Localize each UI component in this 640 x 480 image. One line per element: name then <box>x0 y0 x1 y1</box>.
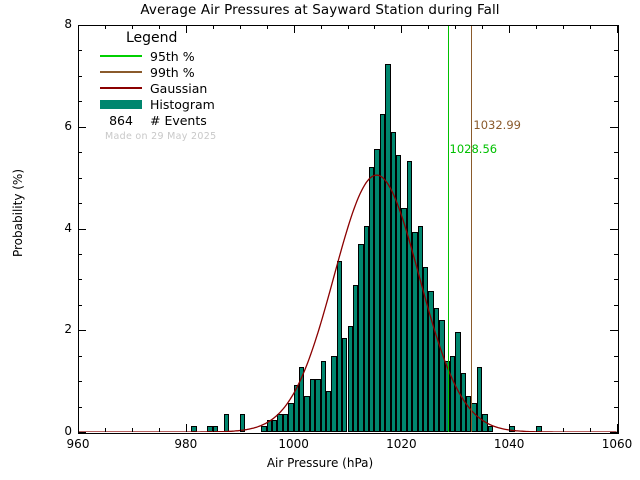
axis-tick <box>78 407 82 408</box>
axis-tick <box>563 428 564 432</box>
axis-tick <box>610 25 618 26</box>
axis-tick <box>614 381 618 382</box>
legend-entry-label: 95th % <box>150 49 195 64</box>
axis-tick <box>78 229 86 230</box>
axis-tick <box>213 428 214 432</box>
legend-entry: Histogram <box>100 96 300 112</box>
axis-tick <box>614 50 618 51</box>
axis-tick <box>105 25 106 29</box>
axis-tick <box>509 25 510 33</box>
axis-tick <box>78 101 82 102</box>
axis-tick <box>428 25 429 29</box>
axis-tick <box>614 356 618 357</box>
legend-entry-label: Gaussian <box>150 81 207 96</box>
axis-tick <box>78 432 86 433</box>
axis-tick <box>614 279 618 280</box>
axis-tick <box>374 428 375 432</box>
y-axis-label: Probability (%) <box>11 133 25 293</box>
y-tick-label: 2 <box>46 322 72 336</box>
axis-tick <box>159 428 160 432</box>
axis-tick <box>614 152 618 153</box>
axis-tick <box>563 25 564 29</box>
legend-entries: 95th %99th %GaussianHistogram <box>100 48 300 112</box>
axis-tick <box>78 381 82 382</box>
axis-tick <box>610 432 618 433</box>
axis-tick <box>267 25 268 29</box>
axis-tick <box>610 330 618 331</box>
legend-title: Legend <box>126 30 300 46</box>
x-axis-label: Air Pressure (hPa) <box>0 456 640 470</box>
legend: Legend 95th %99th %GaussianHistogram 864… <box>100 30 300 142</box>
axis-tick <box>78 25 79 33</box>
axis-tick <box>614 203 618 204</box>
axis-tick <box>401 424 402 432</box>
x-tick-label: 1040 <box>479 437 539 451</box>
made-on-stamp: Made on 29 May 2025 <box>105 131 300 142</box>
axis-tick <box>78 203 82 204</box>
axis-tick <box>78 279 82 280</box>
y-tick-label: 8 <box>46 17 72 31</box>
legend-events-row: 864 # Events <box>100 112 300 129</box>
legend-swatch <box>100 71 142 73</box>
axis-tick <box>78 127 86 128</box>
x-tick-label: 1060 <box>587 437 640 451</box>
axis-tick <box>614 254 618 255</box>
axis-tick <box>590 25 591 29</box>
axis-tick <box>614 76 618 77</box>
x-tick-label: 1000 <box>264 437 324 451</box>
axis-tick <box>240 25 241 29</box>
axis-tick <box>614 305 618 306</box>
axis-tick <box>267 428 268 432</box>
legend-entry: Gaussian <box>100 80 300 96</box>
axis-tick <box>105 428 106 432</box>
axis-tick <box>617 424 618 432</box>
chart-root: Average Air Pressures at Sayward Station… <box>0 0 640 480</box>
axis-tick <box>374 25 375 29</box>
y-tick-label: 6 <box>46 119 72 133</box>
axis-tick <box>348 428 349 432</box>
axis-tick <box>614 407 618 408</box>
y-tick-label: 0 <box>46 424 72 438</box>
axis-tick <box>159 25 160 29</box>
axis-tick <box>536 428 537 432</box>
axis-tick <box>240 428 241 432</box>
legend-entry: 99th % <box>100 64 300 80</box>
axis-tick <box>590 428 591 432</box>
axis-tick <box>455 428 456 432</box>
axis-tick <box>78 356 82 357</box>
axis-tick <box>132 25 133 29</box>
axis-tick <box>348 25 349 29</box>
legend-entry: 95th % <box>100 48 300 64</box>
events-count: 864 <box>100 113 142 128</box>
axis-tick <box>78 254 82 255</box>
axis-tick <box>509 424 510 432</box>
x-tick-label: 960 <box>48 437 108 451</box>
axis-tick <box>132 428 133 432</box>
axis-tick <box>294 424 295 432</box>
axis-tick <box>78 76 82 77</box>
x-tick-label: 980 <box>156 437 216 451</box>
axis-tick <box>455 25 456 29</box>
axis-tick <box>78 305 82 306</box>
axis-tick <box>78 152 82 153</box>
vline-99th-label: 1032.99 <box>473 118 521 132</box>
axis-tick <box>536 25 537 29</box>
axis-tick <box>78 178 82 179</box>
axis-tick <box>213 25 214 29</box>
axis-tick <box>617 25 618 33</box>
axis-tick <box>610 127 618 128</box>
chart-title: Average Air Pressures at Sayward Station… <box>0 2 640 18</box>
axis-tick <box>428 428 429 432</box>
legend-entry-label: Histogram <box>150 97 215 112</box>
axis-tick <box>610 229 618 230</box>
axis-tick <box>186 424 187 432</box>
events-label: # Events <box>150 113 207 128</box>
axis-tick <box>78 424 79 432</box>
axis-tick <box>482 25 483 29</box>
axis-tick <box>482 428 483 432</box>
legend-swatch <box>100 87 142 89</box>
vline-95th-label: 1028.56 <box>450 142 498 156</box>
legend-swatch <box>100 55 142 57</box>
legend-entry-label: 99th % <box>150 65 195 80</box>
axis-tick <box>78 50 82 51</box>
axis-tick <box>401 25 402 33</box>
axis-tick <box>78 330 86 331</box>
axis-tick <box>614 178 618 179</box>
legend-swatch <box>100 100 142 109</box>
axis-tick <box>321 428 322 432</box>
axis-tick <box>614 101 618 102</box>
y-tick-label: 4 <box>46 221 72 235</box>
axis-tick <box>78 25 86 26</box>
x-tick-label: 1020 <box>371 437 431 451</box>
axis-tick <box>321 25 322 29</box>
